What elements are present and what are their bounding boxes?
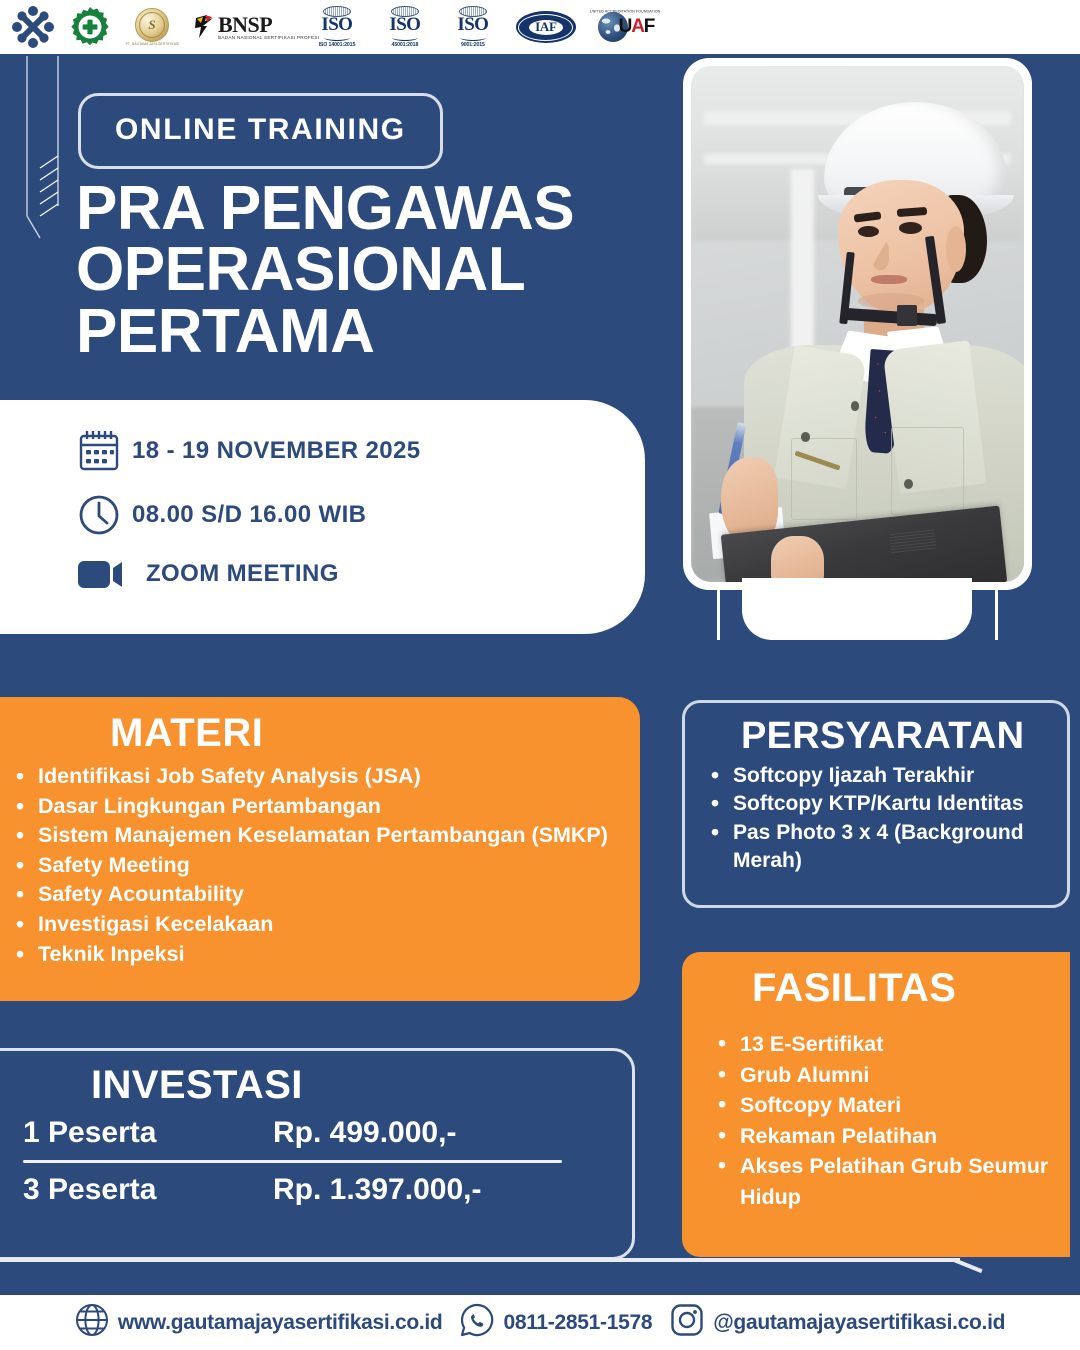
iso-code-45001: 45001:2018	[392, 42, 419, 48]
list-item: Akses Pelatihan Grub Seumur Hidup	[704, 1151, 1052, 1212]
video-camera-icon	[76, 556, 132, 592]
seal-monogram: S	[148, 17, 155, 33]
list-item: Softcopy Ijazah Terakhir	[705, 762, 1049, 790]
title-line-3: PERTAMA	[76, 301, 696, 362]
iso-code-14001: ISO 14001:2015	[319, 42, 356, 48]
uaf-logo: UAF UNITED ACCREDITATION FOUNDATION	[592, 9, 660, 45]
page-title: PRA PENGAWAS OPERASIONAL PERTAMA	[76, 178, 696, 362]
whatsapp-text: 0811-2851-1578	[503, 1311, 652, 1335]
list-item: Identifikasi Job Safety Analysis (JSA)	[8, 762, 614, 791]
bnsp-logo: BNSP BADAN NASIONAL SERTIFIKASI PROFESI	[194, 14, 296, 41]
photo-tab-left	[717, 590, 720, 640]
iso-globe-icon	[391, 6, 419, 17]
event-info-card: 18 - 19 NOVEMBER 2025 08.00 S/D 16.00 WI…	[0, 400, 645, 634]
website-text: www.gautamajayasertifikasi.co.id	[118, 1311, 443, 1335]
instagram-icon	[670, 1303, 704, 1342]
list-item: Dasar Lingkungan Pertambangan	[8, 792, 614, 821]
company-seal-logo: S PT. GAUTAMA JAYA SERTIFIKASI	[124, 6, 180, 48]
investasi-card: INVESTASI 1 Peserta Rp. 499.000,- 3 Pese…	[0, 1048, 635, 1260]
iso-9001-logo: ISO 9001:2015	[446, 6, 500, 48]
instagram-contact[interactable]: @gautamajayasertifikasi.co.id	[670, 1303, 1005, 1342]
event-date-text: 18 - 19 NOVEMBER 2025	[132, 437, 421, 465]
website-contact[interactable]: www.gautamajayasertifikasi.co.id	[75, 1303, 443, 1342]
seal-caption: PT. GAUTAMA JAYA SERTIFIKASI	[125, 43, 179, 47]
list-item: Safety Meeting	[8, 851, 614, 880]
materi-list: Identifikasi Job Safety Analysis (JSA) D…	[8, 762, 614, 968]
list-item: Safety Acountability	[8, 880, 614, 909]
uaf-label: UAF	[619, 16, 654, 38]
event-platform-text: ZOOM MEETING	[146, 560, 339, 588]
investasi-heading: INVESTASI	[91, 1063, 632, 1108]
persyaratan-card: PERSYARATAN Softcopy Ijazah Terakhir Sof…	[682, 700, 1070, 908]
bnsp-sublabel: BADAN NASIONAL SERTIFIKASI PROFESI	[218, 36, 319, 41]
iaf-label: IAF	[535, 19, 557, 35]
photo-tab-center	[742, 578, 972, 640]
list-item: Pas Photo 3 x 4 (Background Merah)	[705, 819, 1049, 876]
price-label: 3 Peserta	[23, 1173, 273, 1207]
event-date-row: 18 - 19 NOVEMBER 2025	[76, 428, 645, 474]
online-training-badge: ONLINE TRAINING	[78, 93, 443, 169]
persyaratan-list: Softcopy Ijazah Terakhir Softcopy KTP/Ka…	[705, 762, 1049, 875]
list-item: Teknik Inpeksi	[8, 940, 614, 969]
list-item: Sistem Manajemen Keselamatan Pertambanga…	[8, 821, 614, 850]
k3-gear-logo	[70, 7, 110, 47]
footer-divider	[0, 1258, 960, 1262]
certification-logo-strip: S PT. GAUTAMA JAYA SERTIFIKASI BNSP BADA…	[0, 0, 1080, 54]
price-value: Rp. 1.397.000,-	[273, 1173, 481, 1207]
list-item: Softcopy Materi	[704, 1090, 1052, 1121]
materi-heading: MATERI	[110, 711, 614, 756]
clock-icon	[76, 492, 132, 538]
list-item: Softcopy KTP/Kartu Identitas	[705, 790, 1049, 818]
calendar-icon	[76, 428, 132, 474]
list-item: Grub Alumni	[704, 1060, 1052, 1091]
fasilitas-card: FASILITAS 13 E-Sertifikat Grub Alumni So…	[682, 952, 1070, 1257]
persyaratan-heading: PERSYARATAN	[741, 715, 1049, 758]
whatsapp-icon	[460, 1303, 494, 1342]
list-item: Investigasi Kecelakaan	[8, 910, 614, 939]
instagram-text: @gautamajayasertifikasi.co.id	[713, 1311, 1005, 1335]
event-time-text: 08.00 S/D 16.00 WIB	[132, 501, 366, 529]
title-line-1: PRA PENGAWAS	[76, 178, 696, 239]
globe-icon	[75, 1303, 109, 1342]
gautama-jaya-sertifikasi-logo	[10, 5, 56, 49]
hero-photo-frame	[683, 58, 1032, 590]
event-platform-row: ZOOM MEETING	[76, 556, 645, 592]
fasilitas-list: 13 E-Sertifikat Grub Alumni Softcopy Mat…	[704, 1029, 1052, 1212]
uaf-tagline: UNITED ACCREDITATION FOUNDATION	[589, 10, 659, 15]
iso-globe-icon	[459, 6, 487, 17]
price-value: Rp. 499.000,-	[273, 1116, 456, 1150]
price-row: 1 Peserta Rp. 499.000,-	[0, 1116, 632, 1150]
whatsapp-contact[interactable]: 0811-2851-1578	[460, 1303, 652, 1342]
iso-45001-logo: ISO 45001:2018	[378, 6, 432, 48]
iso-14001-logo: ISO ISO 14001:2015	[310, 6, 364, 48]
price-label: 1 Peserta	[23, 1116, 273, 1150]
title-line-2: OPERASIONAL	[76, 239, 696, 300]
fasilitas-heading: FASILITAS	[752, 966, 1052, 1011]
iso-code-9001: 9001:2015	[461, 42, 485, 48]
bnsp-label: BNSP	[218, 14, 296, 36]
price-row: 3 Peserta Rp. 1.397.000,-	[0, 1173, 632, 1207]
materi-card: MATERI Identifikasi Job Safety Analysis …	[0, 697, 640, 1001]
price-divider	[23, 1160, 562, 1163]
photo-tab-right	[995, 590, 998, 640]
event-time-row: 08.00 S/D 16.00 WIB	[76, 492, 645, 538]
footer-contact-bar: www.gautamajayasertifikasi.co.id 0811-28…	[0, 1295, 1080, 1350]
safety-inspector-photo	[691, 66, 1024, 582]
poster-root: S PT. GAUTAMA JAYA SERTIFIKASI BNSP BADA…	[0, 0, 1080, 1350]
iaf-logo: IAF	[514, 10, 578, 44]
list-item: 13 E-Sertifikat	[704, 1029, 1052, 1060]
iso-globe-icon	[323, 6, 351, 17]
list-item: Rekaman Pelatihan	[704, 1121, 1052, 1152]
